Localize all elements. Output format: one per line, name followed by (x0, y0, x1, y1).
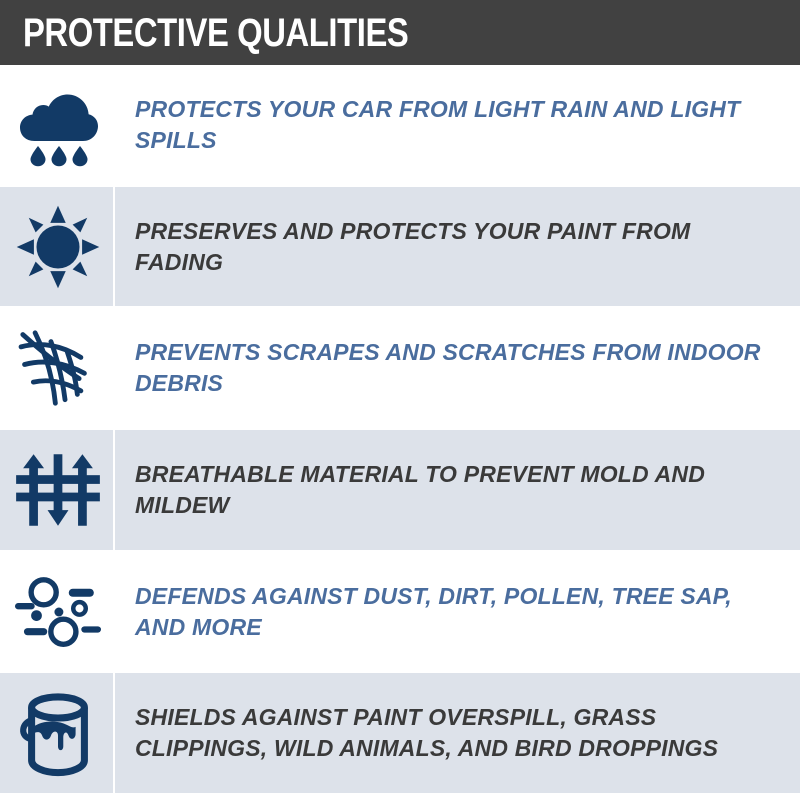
breathable-airflow-icon (14, 449, 102, 531)
feature-text: PRESERVES AND PROTECTS YOUR PAINT FROM F… (135, 216, 778, 278)
header-bar: PROTECTIVE QUALITIES (0, 0, 800, 65)
dust-particles-icon (13, 569, 103, 655)
icon-cell (0, 430, 115, 550)
icon-cell (0, 187, 115, 307)
icon-cell (0, 673, 115, 793)
paint-can-icon (14, 688, 102, 778)
protective-qualities-infographic: PROTECTIVE QUALITIES PRO (0, 0, 800, 800)
icon-cell (0, 308, 115, 428)
icon-cell (0, 65, 115, 185)
feature-text: PREVENTS SCRAPES AND SCRATCHES FROM INDO… (135, 337, 778, 399)
rain-cloud-icon (16, 83, 100, 167)
text-cell: BREATHABLE MATERIAL TO PREVENT MOLD AND … (115, 430, 800, 550)
text-cell: DEFENDS AGAINST DUST, DIRT, POLLEN, TREE… (115, 552, 800, 672)
page-title: PROTECTIVE QUALITIES (0, 11, 408, 55)
feature-row-scratches: PREVENTS SCRAPES AND SCRATCHES FROM INDO… (0, 308, 800, 430)
text-cell: SHIELDS AGAINST PAINT OVERSPILL, GRASS C… (115, 673, 800, 793)
text-cell: PROTECTS YOUR CAR FROM LIGHT RAIN AND LI… (115, 65, 800, 185)
bottom-strip (0, 793, 800, 800)
scratch-mesh-icon (14, 324, 102, 412)
icon-cell (0, 552, 115, 672)
feature-row-rain: PROTECTS YOUR CAR FROM LIGHT RAIN AND LI… (0, 65, 800, 187)
text-cell: PRESERVES AND PROTECTS YOUR PAINT FROM F… (115, 187, 800, 307)
feature-text: PROTECTS YOUR CAR FROM LIGHT RAIN AND LI… (135, 94, 778, 156)
feature-row-breathable: BREATHABLE MATERIAL TO PREVENT MOLD AND … (0, 430, 800, 552)
sun-icon (15, 204, 101, 290)
feature-list: PROTECTS YOUR CAR FROM LIGHT RAIN AND LI… (0, 65, 800, 793)
feature-row-paint: SHIELDS AGAINST PAINT OVERSPILL, GRASS C… (0, 673, 800, 793)
text-cell: PREVENTS SCRAPES AND SCRATCHES FROM INDO… (115, 308, 800, 428)
feature-text: DEFENDS AGAINST DUST, DIRT, POLLEN, TREE… (135, 581, 778, 643)
feature-text: SHIELDS AGAINST PAINT OVERSPILL, GRASS C… (135, 702, 778, 764)
feature-row-dust: DEFENDS AGAINST DUST, DIRT, POLLEN, TREE… (0, 552, 800, 674)
feature-row-sun: PRESERVES AND PROTECTS YOUR PAINT FROM F… (0, 187, 800, 309)
feature-text: BREATHABLE MATERIAL TO PREVENT MOLD AND … (135, 459, 778, 521)
